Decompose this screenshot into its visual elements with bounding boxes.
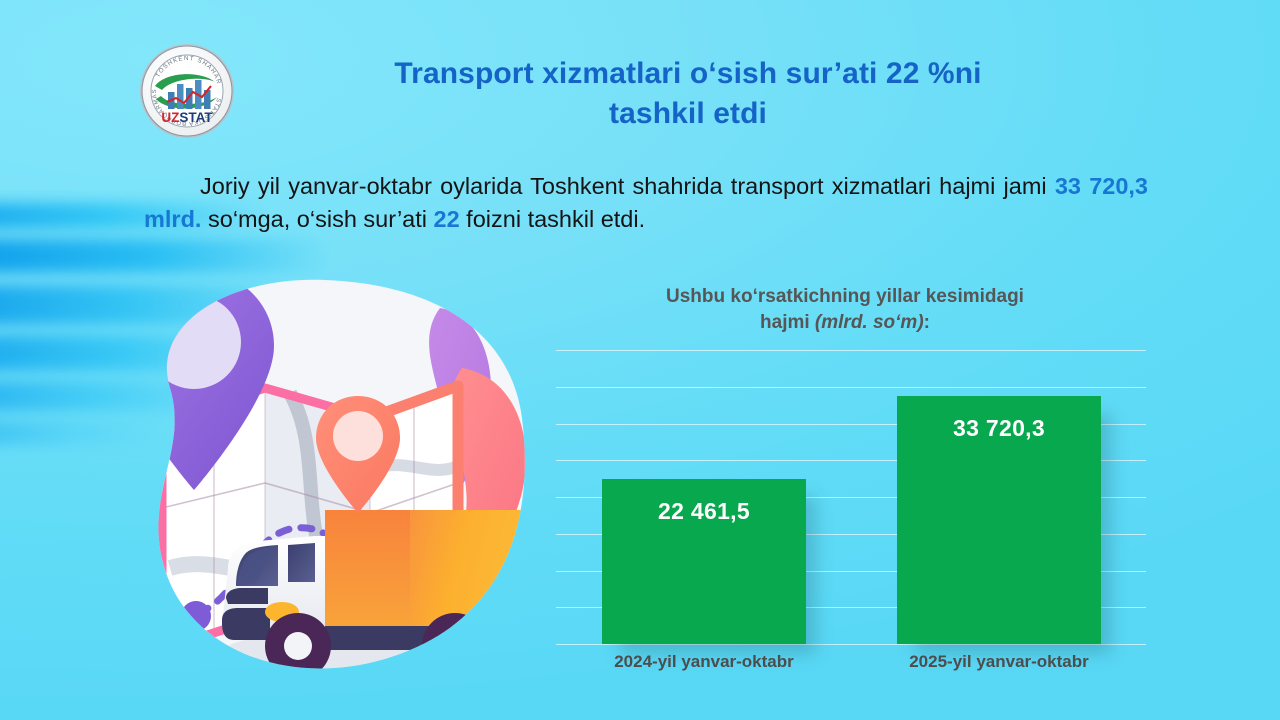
- infographic-canvas: TOSHKENT SHAHAR STATISTIKA BOSHQARMASI U…: [0, 0, 1280, 720]
- paragraph-part3: foizni tashkil etdi.: [460, 206, 645, 232]
- paragraph-part2: so‘mga, o‘sish sur’ati: [201, 206, 433, 232]
- uzstat-logo: TOSHKENT SHAHAR STATISTIKA BOSHQARMASI U…: [138, 42, 236, 140]
- chart-title-line1: Ushbu ko‘rsatkichning yillar kesimidagi: [590, 284, 1100, 310]
- chart-title: Ushbu ko‘rsatkichning yillar kesimidagi …: [590, 284, 1100, 335]
- chart-title-suffix: :: [924, 312, 930, 333]
- summary-paragraph: Joriy yil yanvar-oktabr oylarida Toshken…: [144, 170, 1148, 237]
- paragraph-part1: Joriy yil yanvar-oktabr oylarida Toshken…: [200, 173, 1055, 199]
- chart-unit-label: (mlrd. so‘m): [815, 312, 924, 333]
- chart-title-prefix: hajmi: [760, 312, 815, 333]
- delivery-map-illustration: [110, 268, 560, 678]
- category-label: 2025-yil yanvar-oktabr: [877, 652, 1121, 672]
- page-title: Transport xizmatlari o‘sish sur’ati 22 %…: [268, 54, 1108, 133]
- bar-slot: 22 461,5: [602, 350, 806, 644]
- bar-value-label: 22 461,5: [602, 498, 806, 525]
- page-title-line2: tashkil etdi: [268, 94, 1108, 134]
- chart-title-line2: hajmi (mlrd. so‘m):: [590, 310, 1100, 336]
- page-title-line1: Transport xizmatlari o‘sish sur’ati 22 %…: [268, 54, 1108, 94]
- bar-slot: 33 720,3: [897, 350, 1101, 644]
- bar-value-label: 33 720,3: [897, 415, 1101, 442]
- chart-bars: 22 461,533 720,3: [556, 350, 1146, 644]
- gridline: [556, 644, 1146, 645]
- svg-text:UZSTAT: UZSTAT: [161, 110, 213, 125]
- highlight-growth: 22: [434, 206, 460, 232]
- bar-chart-plot: 22 461,533 720,3: [556, 350, 1146, 644]
- category-label: 2024-yil yanvar-oktabr: [582, 652, 826, 672]
